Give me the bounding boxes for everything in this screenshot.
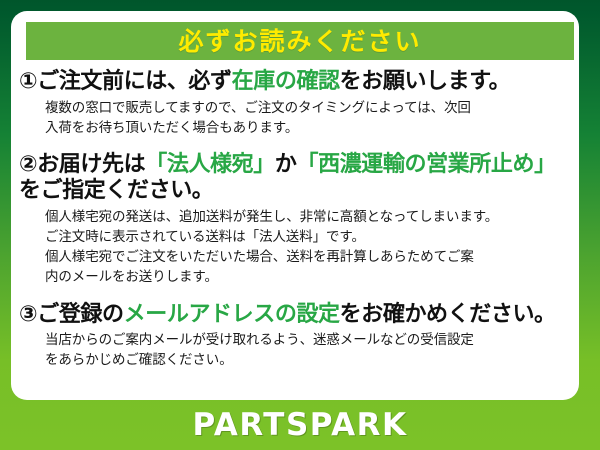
item-2-body-line-4: 内のメールをお送りします。 [45,268,571,288]
item-2-head-highlight-2: 「西濃運輸の営業所止め」 [296,152,555,177]
item-2-body-line-3: 個人様宅宛でご注文をいただいた場合、送料を再計算しあらためてご案 [45,248,571,268]
item-2-head-part-3: か [275,152,297,177]
notice-item-1-body: 複数の窓口で販売してますので、ご注文のタイミングによっては、次回 入荷をお待ち頂… [19,99,571,139]
notice-frame: 必ずお読みください ①ご注文前には、必ず在庫の確認をお願いします。 複数の窓口で… [0,0,600,450]
item-1-body-line-1: 複数の窓口で販売してますので、ご注文のタイミングによっては、次回 [45,99,571,119]
item-2-head-part-5: をご指定ください。 [19,178,213,203]
item-3-marker: ③ [19,302,37,327]
item-1-head-part-1: ご注文前には、必ず [37,69,231,94]
brand-logo-text: PARTSPARK [192,410,407,441]
item-2-body-line-2: ご注文時に表示されている送料は「法人送料」です。 [45,228,571,248]
item-1-head-part-3: をお願いします。 [340,69,511,94]
item-2-marker: ② [19,152,37,177]
notice-item-3: ③ご登録のメールアドレスの設定をお確かめください。 当店からのご案内メールが受け… [11,302,579,372]
item-2-head-part-1: お届け先は [37,152,145,177]
item-3-head-highlight: メールアドレスの設定 [124,302,340,327]
header-title: 必ずお読みください [178,29,421,54]
footer-band: PARTSPARK [0,400,600,450]
item-3-head-part-1: ご登録の [37,302,123,327]
item-3-body-line-1: 当店からのご案内メールが受け取れるよう、迷惑メールなどの受信設定 [45,331,571,351]
notice-item-3-body: 当店からのご案内メールが受け取れるよう、迷惑メールなどの受信設定 をあらかじめご… [19,331,571,371]
header-banner: 必ずお読みください [26,22,574,60]
notice-item-2-body: 個人様宅宛の発送は、追加送料が発生し、非常に高額となってしまいます。 ご注文時に… [19,208,571,287]
notice-item-3-heading: ③ご登録のメールアドレスの設定をお確かめください。 [19,302,571,329]
item-1-head-highlight: 在庫の確認 [232,69,340,94]
item-1-body-line-2: 入荷をお待ち頂いただく場合もあります。 [45,119,571,139]
item-3-body-line-2: をあらかじめご確認ください。 [45,351,571,371]
item-2-body-line-1: 個人様宅宛の発送は、追加送料が発生し、非常に高額となってしまいます。 [45,208,571,228]
notice-item-2-heading: ②お届け先は「法人様宛」か「西濃運輸の営業所止め」をご指定ください。 [19,152,571,206]
item-3-head-part-3: をお確かめください。 [340,302,556,327]
notice-item-1-heading: ①ご注文前には、必ず在庫の確認をお願いします。 [19,69,571,96]
item-2-head-highlight-1: 「法人様宛」 [145,152,275,177]
notice-item-2: ②お届け先は「法人様宛」か「西濃運輸の営業所止め」をご指定ください。 個人様宅宛… [11,152,579,288]
notice-item-1: ①ご注文前には、必ず在庫の確認をお願いします。 複数の窓口で販売してますので、ご… [11,69,579,139]
item-1-marker: ① [19,69,37,94]
notice-items-list: ①ご注文前には、必ず在庫の確認をお願いします。 複数の窓口で販売してますので、ご… [11,69,579,371]
notice-card: 必ずお読みください ①ご注文前には、必ず在庫の確認をお願いします。 複数の窓口で… [11,11,579,400]
